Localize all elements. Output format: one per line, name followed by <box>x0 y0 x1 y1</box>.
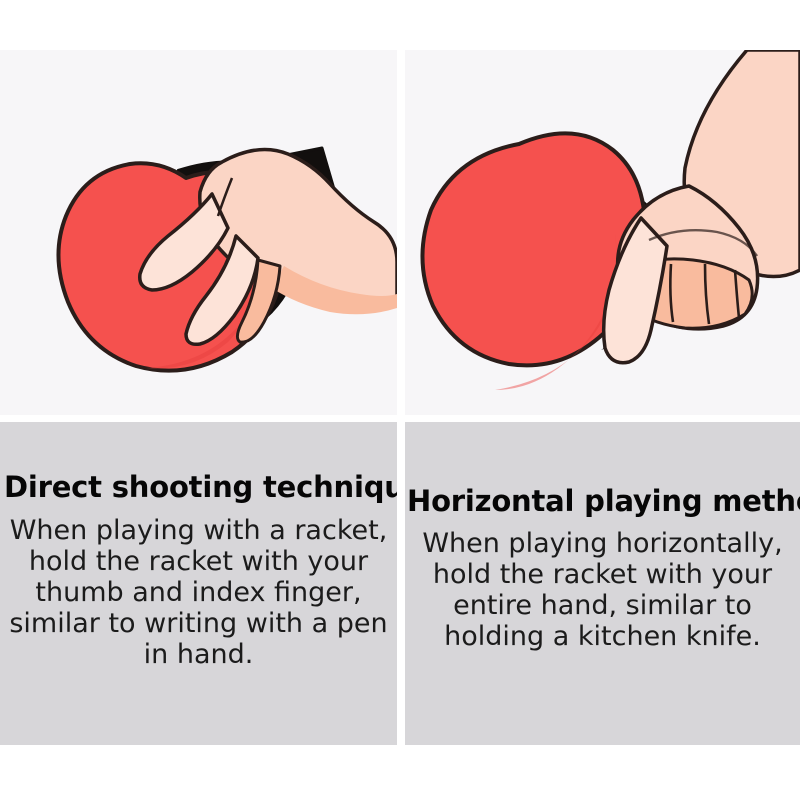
caption-right-body: When playing horizontally, hold the rack… <box>407 528 798 652</box>
column-gap-top <box>397 50 405 415</box>
shakehand-grip-illustration <box>405 50 800 415</box>
caption-left-body: When playing with a racket, hold the rac… <box>4 515 393 670</box>
row-gap-left <box>0 415 397 422</box>
panel-grid: Direct shooting technique When playing w… <box>0 50 800 745</box>
caption-right-inner: Horizontal playing method When playing h… <box>405 484 800 652</box>
caption-left-inner: Direct shooting technique When playing w… <box>0 470 397 670</box>
caption-panel-left: Direct shooting technique When playing w… <box>0 422 397 745</box>
row-gap-right <box>405 415 800 422</box>
caption-right-title: Horizontal playing method <box>407 484 798 518</box>
infographic-page: Direct shooting technique When playing w… <box>0 0 800 800</box>
illustration-panel-left <box>0 50 397 415</box>
penhold-grip-illustration <box>0 50 397 415</box>
caption-panel-right: Horizontal playing method When playing h… <box>405 422 800 745</box>
column-gap-bottom <box>397 422 405 745</box>
illustration-panel-right <box>405 50 800 415</box>
caption-left-title: Direct shooting technique <box>4 470 393 504</box>
grid-gap-center <box>397 415 405 422</box>
